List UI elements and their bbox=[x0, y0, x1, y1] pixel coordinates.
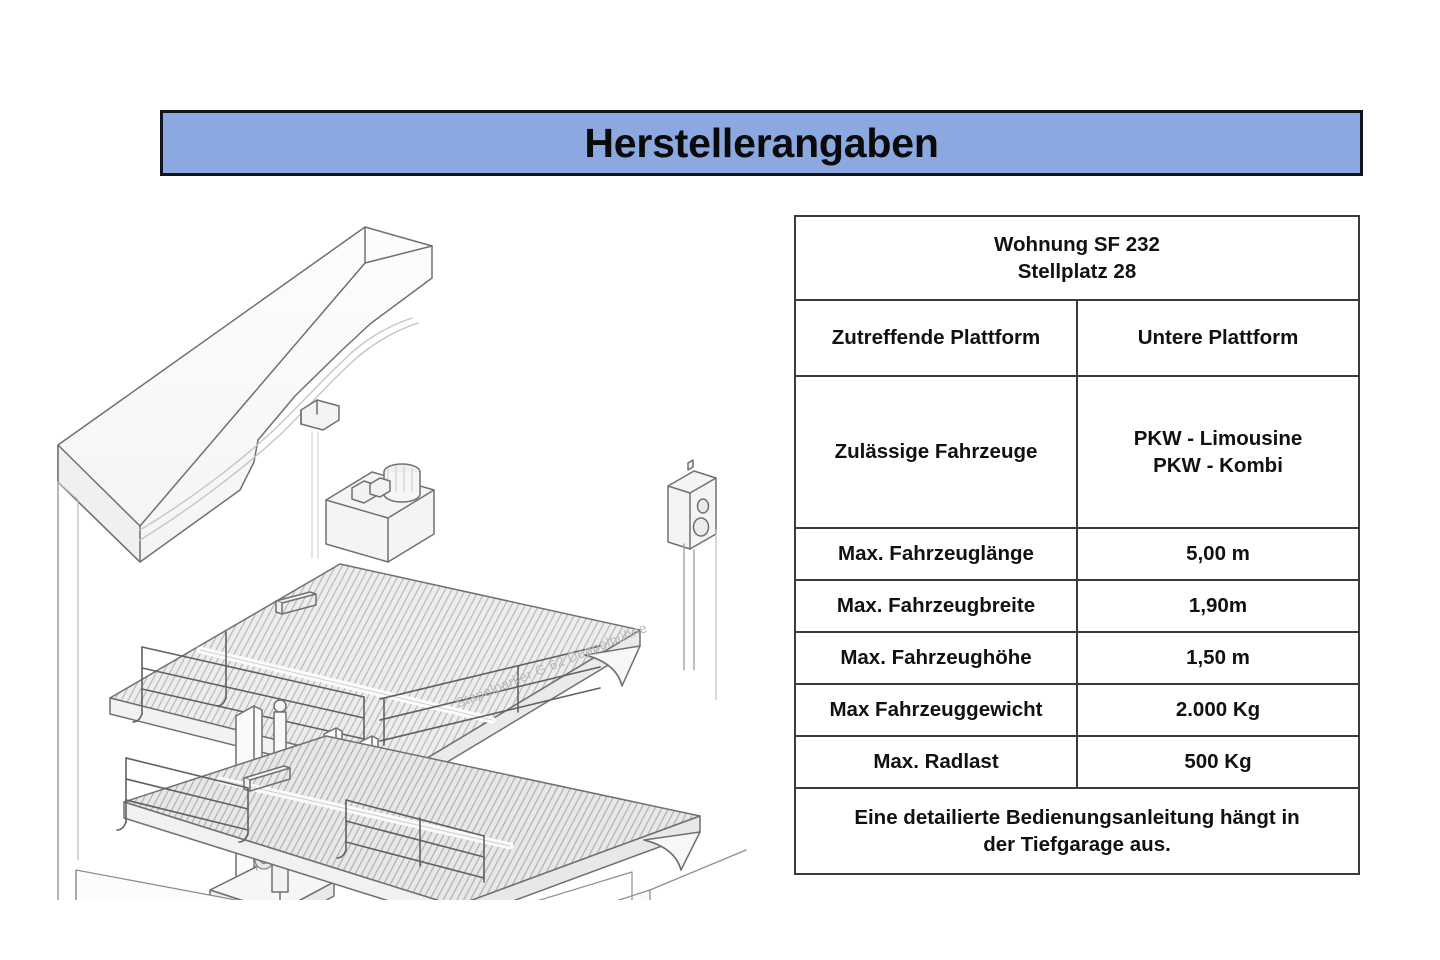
max-height-value: 1,50 m bbox=[1077, 632, 1359, 684]
table-row-max-wheel-load: Max. Radlast 500 Kg bbox=[795, 736, 1359, 788]
max-weight-label: Max Fahrzeuggewicht bbox=[795, 684, 1077, 736]
max-wheel-load-value: 500 Kg bbox=[1077, 736, 1359, 788]
max-length-label: Max. Fahrzeuglänge bbox=[795, 528, 1077, 580]
table-row-max-length: Max. Fahrzeuglänge 5,00 m bbox=[795, 528, 1359, 580]
parking-space-label: Stellplatz 28 bbox=[802, 258, 1352, 285]
table-row-vehicles: Zulässige Fahrzeuge PKW - Limousine PKW … bbox=[795, 376, 1359, 528]
manual-note-line-1: Eine detailierte Bedienungsanleitung hän… bbox=[802, 804, 1352, 831]
apartment-parking-cell: Wohnung SF 232 Stellplatz 28 bbox=[795, 216, 1359, 300]
control-button-down bbox=[694, 518, 709, 536]
table-row-title: Wohnung SF 232 Stellplatz 28 bbox=[795, 216, 1359, 300]
header-banner: Herstellerangaben bbox=[160, 110, 1363, 176]
control-button-up bbox=[698, 499, 709, 513]
vehicles-value: PKW - Limousine PKW - Kombi bbox=[1077, 376, 1359, 528]
left-wall-group bbox=[58, 482, 78, 900]
control-box-group bbox=[668, 460, 716, 670]
max-width-label: Max. Fahrzeugbreite bbox=[795, 580, 1077, 632]
hydraulic-power-unit-group bbox=[326, 464, 434, 562]
table-row-max-weight: Max Fahrzeuggewicht 2.000 Kg bbox=[795, 684, 1359, 736]
vehicles-label: Zulässige Fahrzeuge bbox=[795, 376, 1077, 528]
page-title: Herstellerangaben bbox=[584, 123, 938, 164]
table-row-platform: Zutreffende Plattform Untere Plattform bbox=[795, 300, 1359, 376]
table-row-max-height: Max. Fahrzeughöhe 1,50 m bbox=[795, 632, 1359, 684]
table-row-note: Eine detailierte Bedienungsanleitung hän… bbox=[795, 788, 1359, 874]
manual-note-line-2: der Tiefgarage aus. bbox=[802, 831, 1352, 858]
stapelparker-illustration: Stapelparker G 62 Doppelbühne bbox=[40, 200, 770, 900]
max-length-value: 5,00 m bbox=[1077, 528, 1359, 580]
vehicle-type-limousine: PKW - Limousine bbox=[1084, 425, 1352, 452]
apartment-label: Wohnung SF 232 bbox=[802, 231, 1352, 258]
max-wheel-load-label: Max. Radlast bbox=[795, 736, 1077, 788]
table-row-max-width: Max. Fahrzeugbreite 1,90m bbox=[795, 580, 1359, 632]
platform-value: Untere Plattform bbox=[1077, 300, 1359, 376]
vehicle-type-kombi: PKW - Kombi bbox=[1084, 452, 1352, 479]
manufacturer-spec-table: Wohnung SF 232 Stellplatz 28 Zutreffende… bbox=[794, 215, 1360, 875]
max-height-label: Max. Fahrzeughöhe bbox=[795, 632, 1077, 684]
platform-label: Zutreffende Plattform bbox=[795, 300, 1077, 376]
max-weight-value: 2.000 Kg bbox=[1077, 684, 1359, 736]
max-width-value: 1,90m bbox=[1077, 580, 1359, 632]
technical-drawing: Stapelparker G 62 Doppelbühne bbox=[40, 200, 770, 900]
manual-note-cell: Eine detailierte Bedienungsanleitung hän… bbox=[795, 788, 1359, 874]
